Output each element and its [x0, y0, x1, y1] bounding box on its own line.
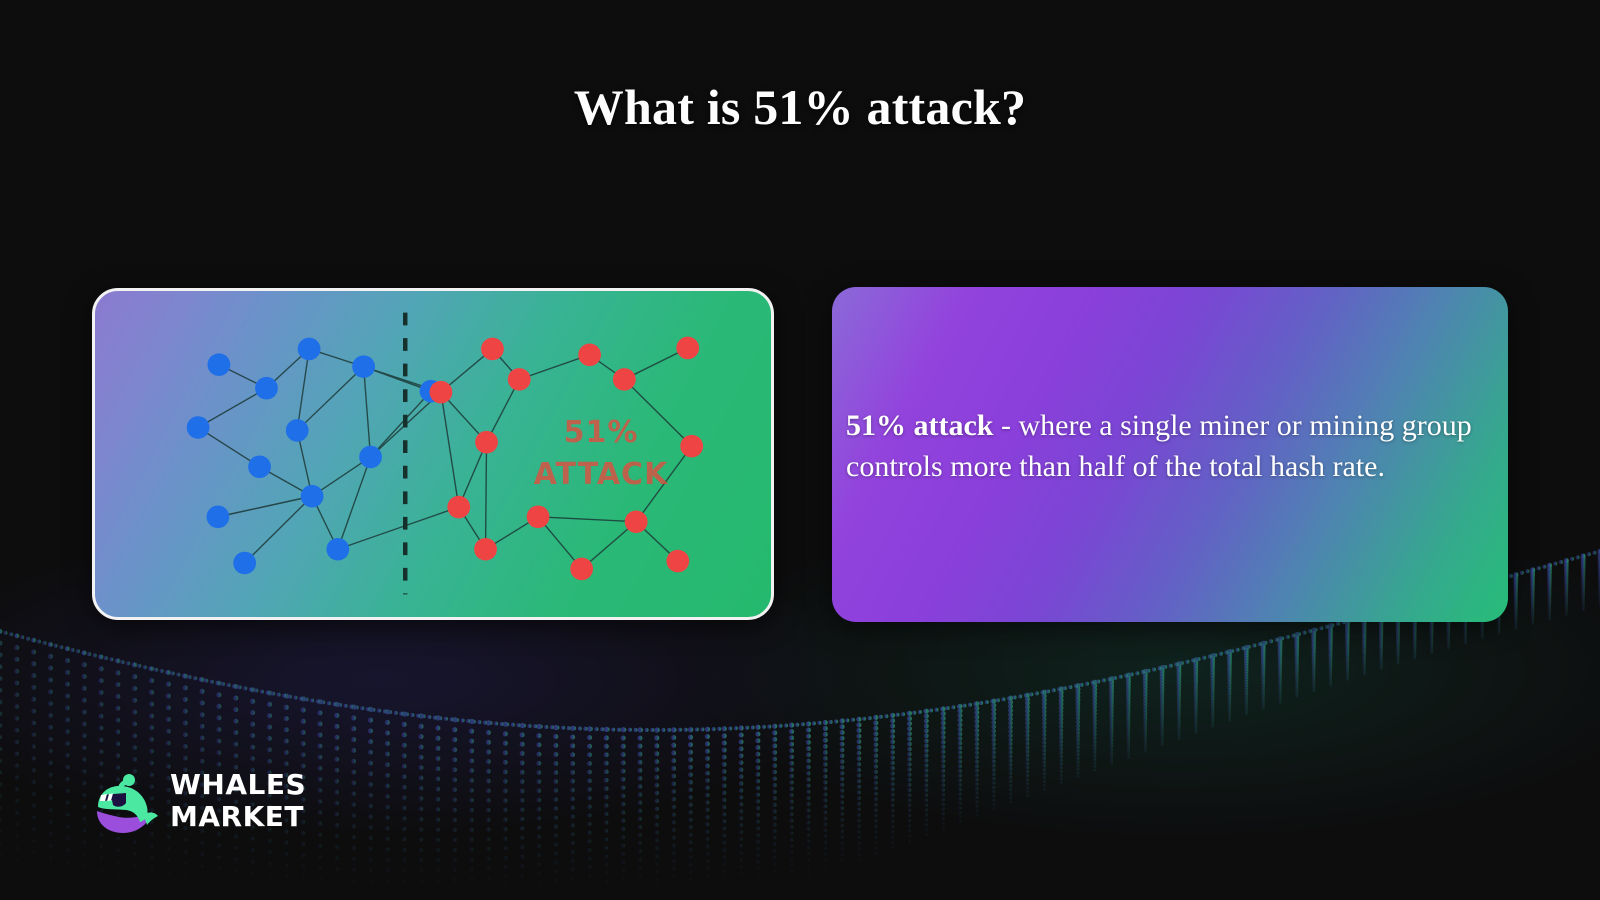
network-edge — [371, 391, 431, 457]
attacker-node — [613, 368, 636, 391]
brand-logo[interactable]: WHALES MARKET — [92, 765, 307, 840]
attacker-node — [481, 338, 504, 361]
brand-line-1: WHALES — [170, 769, 306, 801]
brand-wordmark: WHALES MARKET — [170, 769, 306, 833]
honest-node — [208, 353, 231, 376]
attacker-node — [625, 510, 648, 533]
network-edge — [364, 367, 371, 457]
definition-lead: 51% attack — [846, 409, 993, 442]
attacker-node — [680, 435, 703, 458]
honest-node — [207, 506, 230, 529]
brand-line-2: MARKET — [170, 801, 306, 833]
attacker-node — [527, 506, 550, 529]
network-graph — [95, 291, 771, 617]
definition-text: 51% attack - where a single miner or min… — [840, 405, 1498, 487]
network-edge — [538, 517, 636, 522]
honest-node — [359, 446, 382, 469]
attacker-node — [430, 381, 453, 404]
network-edge — [218, 496, 312, 517]
attacker-node — [578, 344, 601, 367]
network-edge — [338, 457, 371, 549]
network-edge — [338, 507, 459, 549]
attacker-node — [474, 538, 497, 561]
attacker-node — [570, 558, 593, 581]
honest-node — [352, 355, 375, 378]
network-edge — [198, 388, 266, 427]
honest-node — [255, 377, 278, 400]
definition-card: 51% attack - where a single miner or min… — [832, 287, 1508, 622]
page-title: What is 51% attack? — [0, 78, 1600, 136]
slide-root: What is 51% attack? 51% ATTACK 51% attac… — [0, 0, 1600, 900]
attacker-node — [676, 337, 699, 360]
network-edge — [297, 367, 363, 431]
honest-node — [286, 419, 309, 442]
network-edge — [636, 446, 692, 522]
whale-icon — [92, 767, 160, 835]
network-edge — [245, 496, 312, 563]
attacker-node — [666, 550, 689, 573]
honest-node — [326, 538, 349, 561]
honest-node — [187, 416, 210, 439]
attacker-node — [508, 368, 531, 391]
network-edge — [486, 442, 487, 549]
honest-node — [298, 338, 321, 361]
network-edge — [624, 379, 691, 446]
honest-node — [301, 485, 324, 508]
honest-node — [248, 455, 271, 478]
attacker-node — [447, 496, 470, 519]
honest-node — [233, 552, 256, 575]
attacker-node — [475, 431, 498, 454]
network-edge — [297, 349, 309, 430]
network-diagram-card — [92, 288, 774, 620]
